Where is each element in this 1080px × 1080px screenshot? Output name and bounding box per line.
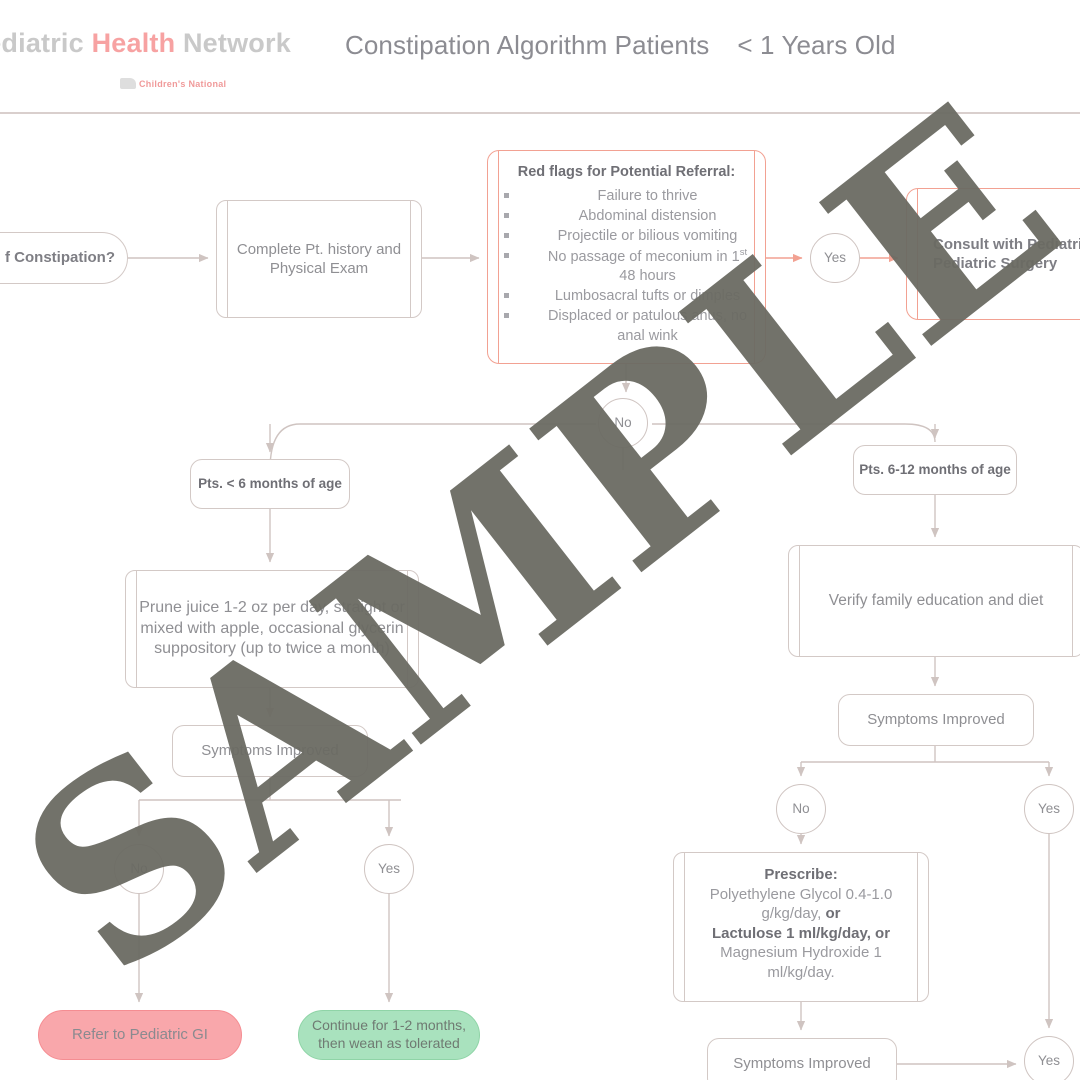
decision-yes-red-flags[interactable]: Yes [810,233,860,283]
entry-node-constipation-question[interactable]: f Constipation? [0,232,128,284]
node-prune-juice-regimen[interactable]: Prune juice 1-2 oz per day, straight or … [125,570,419,688]
page-header: Pediatric Health Network Children's Nati… [0,0,1080,108]
prescribe-line-3: Magnesium Hydroxide 1 ml/kg/day. [686,943,916,982]
red-flag-item: Projectile or bilious vomiting [496,226,757,246]
decision-yes-left[interactable]: Yes [364,844,414,894]
red-flags-title: Red flags for Potential Referral: [496,163,757,182]
page-title-age: < 1 Years Old [737,30,895,60]
prescribe-line-1: Polyethylene Glycol 0.4-1.0 g/kg/day, or [686,885,916,924]
node-symptoms-improved-right[interactable]: Symptoms Improved [838,694,1034,746]
decision-no-red-flags[interactable]: No [598,398,648,448]
header-divider [0,112,1080,114]
node-complete-history-physical-exam[interactable]: Complete Pt. history and Physical Exam [216,200,422,318]
node-consult-pediatric-gi-surgery[interactable]: Consult with Pediatric GI or Pediatric S… [906,188,1080,320]
logo-text-health: Health [92,28,176,58]
decision-yes-right[interactable]: Yes [1024,784,1074,834]
red-flag-item-pre: No passage of meconium in 1 [548,248,740,264]
red-flag-item: Failure to thrive [496,186,757,206]
node-verify-family-education-diet[interactable]: Verify family education and diet [788,545,1080,657]
logo-text-network: Network [175,28,291,58]
decision-no-right[interactable]: No [776,784,826,834]
flowchart-page: Pediatric Health Network Children's Nati… [0,0,1080,1080]
red-flags-list: Failure to thrive Abdominal distension P… [496,186,757,347]
logo-text-pediatric: Pediatric [0,28,92,58]
prescribe-line-1-text: Polyethylene Glycol 0.4-1.0 g/kg/day, [710,886,893,923]
prescribe-line-1-or: or [825,905,840,922]
prescribe-line-2: Lactulose 1 ml/kg/day, or [686,924,916,944]
node-refer-to-pediatric-gi[interactable]: Refer to Pediatric GI [38,1010,242,1060]
childrens-national-mark-icon [120,78,136,89]
node-continue-then-wean[interactable]: Continue for 1-2 months, then wean as to… [298,1010,480,1060]
red-flag-item: No passage of meconium in 1st 48 hours [496,246,757,287]
red-flag-item: Displaced or patulous anus, no anal wink [496,306,757,346]
red-flag-item: Abdominal distension [496,206,757,226]
node-symptoms-improved-bottom[interactable]: Symptoms Improved [707,1038,897,1080]
logo-sublogo: Children's National [120,78,226,89]
red-flag-item-sup: st [740,247,747,258]
page-title: Constipation Algorithm Patients< 1 Years… [345,30,896,61]
node-red-flags-potential-referral[interactable]: Red flags for Potential Referral: Failur… [487,150,766,364]
logo: Pediatric Health Network Children's Nati… [0,28,291,59]
decision-no-left[interactable]: No [114,844,164,894]
logo-sub-label: Children's National [139,79,226,89]
decision-yes-bottom[interactable]: Yes [1024,1036,1074,1080]
red-flag-item: Lumbosacral tufts or dimples [496,286,757,306]
prescribe-title: Prescribe: [686,865,916,885]
node-symptoms-improved-left[interactable]: Symptoms Improved [172,725,368,777]
node-pts-under-6-months[interactable]: Pts. < 6 months of age [190,459,350,509]
page-title-main: Constipation Algorithm Patients [345,30,709,60]
red-flag-item-post: 48 hours [619,268,675,284]
node-pts-6-to-12-months[interactable]: Pts. 6-12 months of age [853,445,1017,495]
node-prescribe-medications[interactable]: Prescribe: Polyethylene Glycol 0.4-1.0 g… [673,852,929,1002]
